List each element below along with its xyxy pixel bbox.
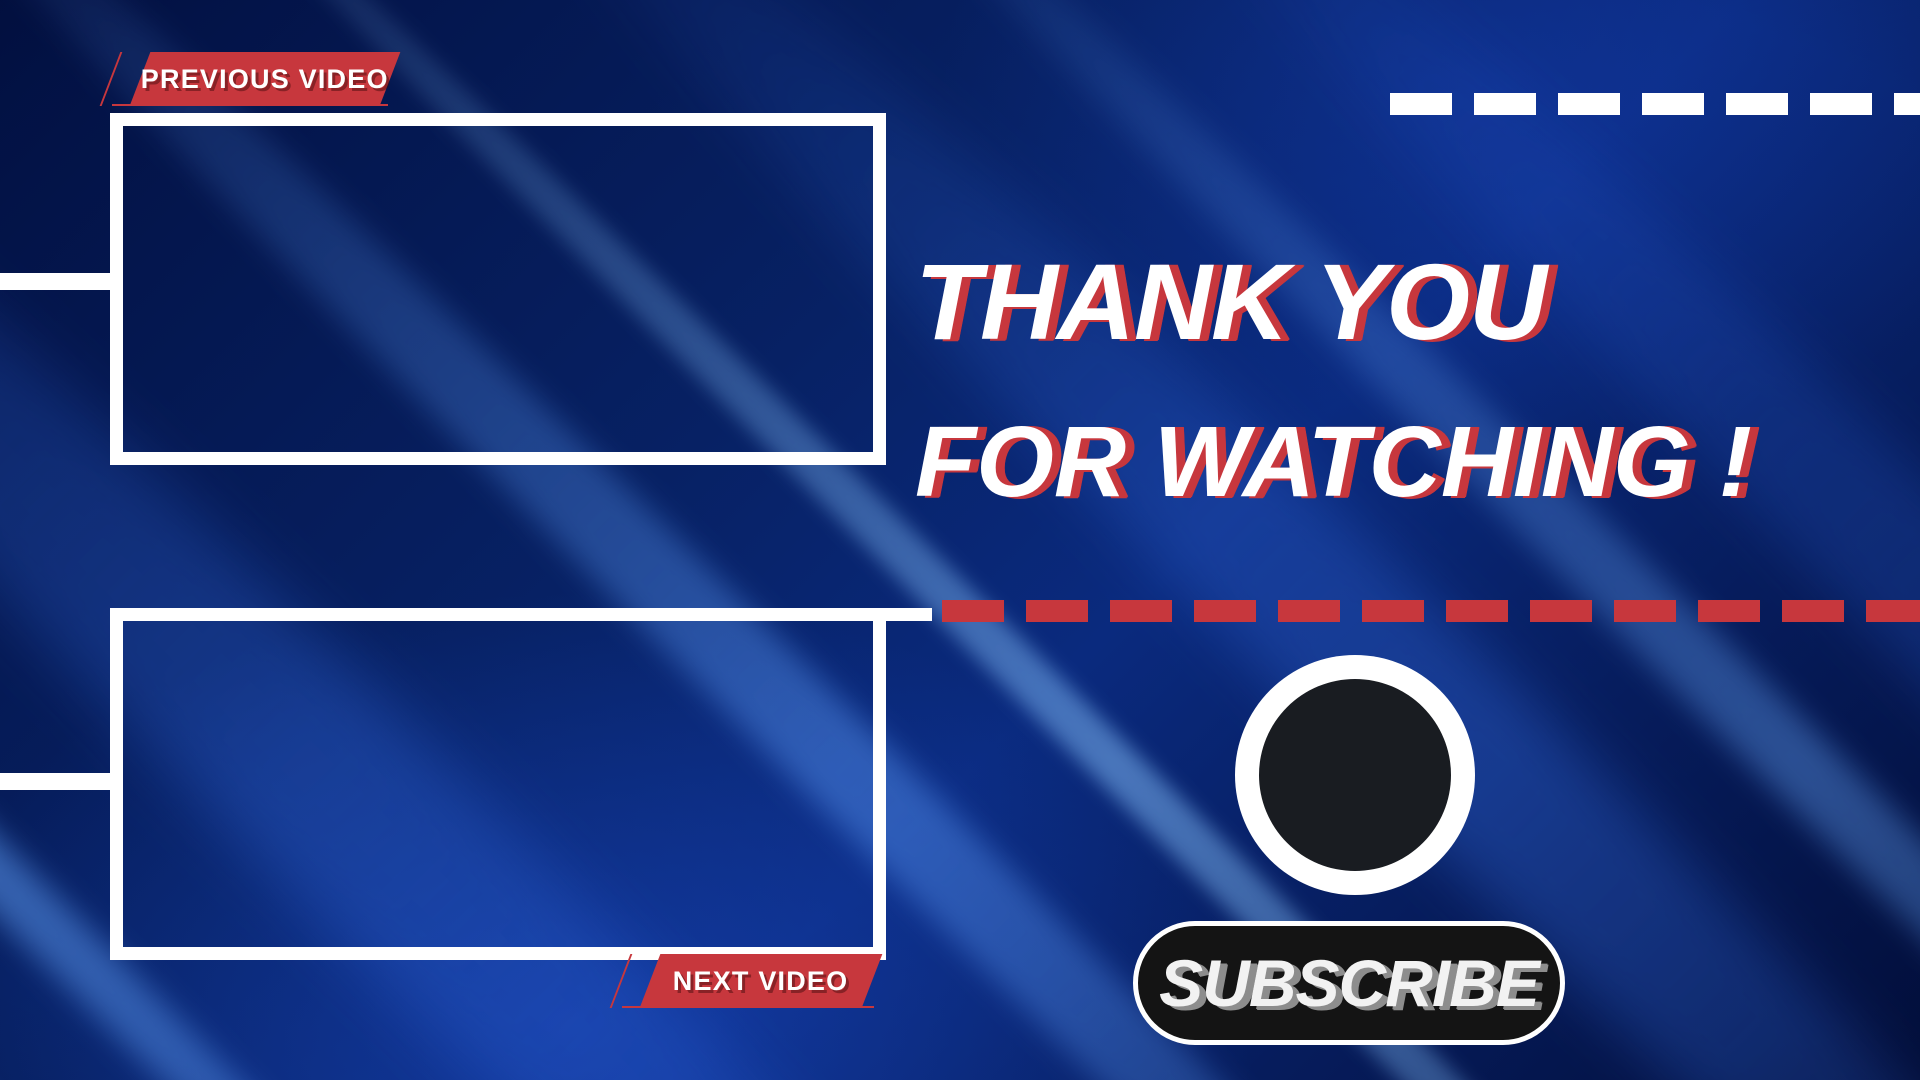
headline-line-1: THANK YOU [915, 248, 1895, 356]
headline-block: THANK YOU FOR WATCHING ! [915, 248, 1895, 512]
white-dashed-divider [1390, 93, 1920, 115]
white-dash-segment [1810, 93, 1872, 115]
red-dash-segment [1194, 600, 1256, 622]
red-dash-segment [1362, 600, 1424, 622]
avatar-inner-circle [1259, 679, 1451, 871]
red-dash-segment [1782, 600, 1844, 622]
next-video-placeholder-frame[interactable] [110, 608, 886, 960]
next-video-tag-label: NEXT VIDEO [673, 966, 849, 997]
white-dash-segment [1474, 93, 1536, 115]
previous-video-tag-label: PREVIOUS VIDEO [141, 64, 389, 95]
red-dash-segment [1866, 600, 1920, 622]
channel-avatar-placeholder[interactable] [1235, 655, 1475, 895]
next-video-tag[interactable]: NEXT VIDEO [650, 954, 872, 1008]
red-dash-segment [1530, 600, 1592, 622]
red-dash-segment [1110, 600, 1172, 622]
red-dash-segment [942, 600, 1004, 622]
white-dash-segment [1642, 93, 1704, 115]
previous-video-tag[interactable]: PREVIOUS VIDEO [140, 52, 390, 106]
headline-line-2: FOR WATCHING ! [915, 412, 1895, 512]
white-dash-segment [1726, 93, 1788, 115]
subscribe-button-label: SUBSCRIBE [1159, 945, 1539, 1021]
next-frame-left-tick [0, 773, 118, 790]
previous-video-placeholder-frame[interactable] [110, 113, 886, 465]
subscribe-button[interactable]: SUBSCRIBE [1133, 921, 1565, 1045]
next-frame-extended-top-bar [110, 608, 932, 621]
white-dash-segment [1390, 93, 1452, 115]
white-dash-segment [1558, 93, 1620, 115]
previous-video-tag-body: PREVIOUS VIDEO [130, 52, 401, 106]
red-dash-segment [1026, 600, 1088, 622]
red-dash-segment [1446, 600, 1508, 622]
light-streak [1041, 0, 1920, 1080]
next-video-tag-body: NEXT VIDEO [640, 954, 883, 1008]
red-dashed-divider [942, 600, 1920, 622]
red-dash-segment [1614, 600, 1676, 622]
red-dash-segment [1278, 600, 1340, 622]
end-screen-canvas: PREVIOUS VIDEO NEXT VIDEO THANK YOU FOR … [0, 0, 1920, 1080]
previous-frame-left-tick [0, 273, 118, 290]
white-dash-segment [1894, 93, 1920, 115]
light-streak [761, 0, 1920, 1080]
red-dash-segment [1698, 600, 1760, 622]
